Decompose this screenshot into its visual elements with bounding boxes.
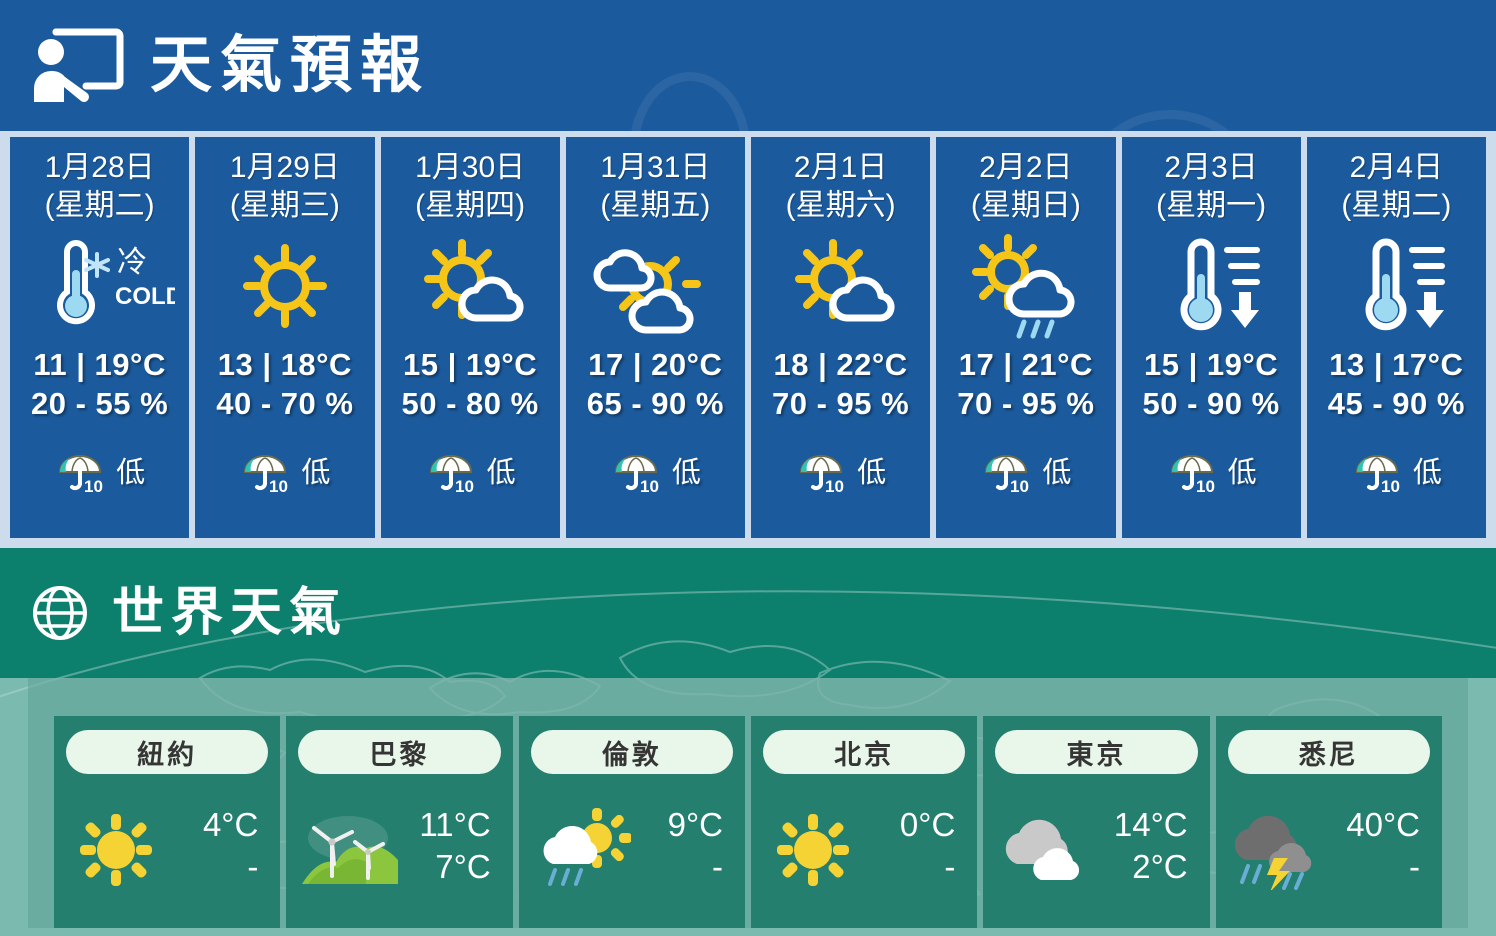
svg-text:冷: 冷 [117,246,147,279]
world-weather-title: 世界天氣 [112,587,348,639]
umbrella-uv-icon: 10 [54,446,106,494]
uv-index-group: 10 低 [795,446,886,494]
uv-level-label: 低 [487,449,516,491]
forecast-temperature-humidity: 17 | 21°C70 - 95 % [957,346,1094,424]
sunny-icon [767,802,863,890]
city-temperatures: 9°C- [668,804,729,888]
umbrella-uv-icon: 10 [1166,446,1218,494]
city-name: 紐約 [66,730,268,774]
city-body: 11°C7°C [298,774,500,918]
city-body: 40°C- [1228,774,1430,918]
forecast-date: 1月29日(星期三) [230,149,340,224]
city-body: 4°C- [66,774,268,918]
svg-text:10: 10 [269,477,288,494]
city-temperatures: 40°C- [1346,804,1426,888]
svg-text:COLD: COLD [115,283,175,310]
decorative-watermark-shape [1075,110,1265,131]
uv-level-label: 低 [116,449,145,491]
city-body: 14°C2°C [995,774,1197,918]
forecast-temperature-humidity: 15 | 19°C50 - 80 % [402,346,539,424]
forecast-temperature-humidity: 18 | 22°C70 - 95 % [772,346,909,424]
sun-rain-cloud-icon [535,802,631,890]
thermometer-falling-icon [1336,232,1456,340]
thermometer-falling-icon [1151,232,1271,340]
forecast-date: 1月28日(星期二) [45,149,155,224]
svg-text:10: 10 [825,477,844,494]
forecast-temperature-humidity: 17 | 20°C65 - 90 % [587,346,724,424]
sunny-icon [230,232,340,340]
cold-thermometer-snowflake-icon: 冷 COLD [25,232,175,340]
forecast-date: 1月31日(星期五) [600,149,710,224]
sunny-icon [70,802,166,890]
city-body: 0°C- [763,774,965,918]
svg-text:10: 10 [455,477,474,494]
windy-turbine-icon [302,802,398,890]
svg-text:10: 10 [1196,477,1215,494]
forecast-date: 2月2日(星期日) [971,149,1081,224]
city-temperatures: 11°C7°C [419,804,496,888]
forecast-temperature-humidity: 13 | 18°C40 - 70 % [216,346,353,424]
city-name: 東京 [995,730,1197,774]
city-card[interactable]: 北京 0°C- [751,716,977,928]
city-name: 北京 [763,730,965,774]
uv-index-group: 10 低 [239,446,330,494]
forecast-cards-row: 1月28日(星期二) 冷 COLD 11 | 19°C20 - 55 % [0,131,1496,548]
globe-icon [30,583,90,643]
world-weather-header: 世界天氣 [0,548,1496,678]
forecast-day-card[interactable]: 1月31日(星期五) 17 | 20°C65 - 90 % [566,137,745,538]
city-body: 9°C- [531,774,733,918]
city-name: 巴黎 [298,730,500,774]
weather-forecast-section: 天氣預報 1月28日(星期二) 冷 COLD 11 | [0,0,1496,548]
uv-level-label: 低 [1413,449,1442,491]
forecast-day-card[interactable]: 2月2日(星期日) 17 | 21°C70 - 95 % [936,137,1115,538]
forecast-day-card[interactable]: 2月4日(星期二) 13 | 17°C45 - 90 % [1307,137,1486,538]
forecast-date: 2月3日(星期一) [1156,149,1266,224]
city-name: 倫敦 [531,730,733,774]
svg-text:10: 10 [1381,477,1400,494]
umbrella-uv-icon: 10 [980,446,1032,494]
uv-index-group: 10 低 [980,446,1071,494]
svg-text:10: 10 [1010,477,1029,494]
city-card[interactable]: 紐約 4°C- [54,716,280,928]
page-title: 天氣預報 [150,35,430,97]
forecast-date: 2月1日(星期六) [786,149,896,224]
forecast-temperature-humidity: 15 | 19°C50 - 90 % [1143,346,1280,424]
forecast-header: 天氣預報 [0,0,1496,131]
world-cities-panel: 紐約 4°C- [28,678,1468,928]
thunderstorm-icon [1232,802,1328,890]
uv-index-group: 10 低 [1166,446,1257,494]
svg-text:10: 10 [640,477,659,494]
sun-with-cloud-icon [410,232,530,340]
uv-index-group: 10 低 [1351,446,1442,494]
uv-level-label: 低 [301,449,330,491]
mostly-cloudy-with-sun-icon [590,232,720,340]
world-weather-section: 世界天氣 紐約 [0,548,1496,936]
forecast-temperature-humidity: 13 | 17°C45 - 90 % [1328,346,1465,424]
presenter-board-icon [30,26,126,106]
forecast-date: 2月4日(星期二) [1341,149,1451,224]
forecast-day-card[interactable]: 1月29日(星期三) 13 | 18°C40 - 70 % [195,137,374,538]
city-name: 悉尼 [1228,730,1430,774]
sun-cloud-rain-icon [966,232,1086,340]
umbrella-uv-icon: 10 [1351,446,1403,494]
city-card[interactable]: 倫敦 [519,716,745,928]
umbrella-uv-icon: 10 [610,446,662,494]
sun-with-cloud-icon [781,232,901,340]
city-temperatures: 4°C- [203,804,264,888]
decorative-watermark-shape [630,72,750,131]
forecast-day-card[interactable]: 2月1日(星期六) 18 | 22°C70 - 95 % [751,137,930,538]
uv-index-group: 10 低 [610,446,701,494]
uv-index-group: 10 低 [425,446,516,494]
uv-level-label: 低 [672,449,701,491]
svg-text:10: 10 [84,477,103,494]
city-cards-row: 紐約 4°C- [54,716,1442,928]
cloudy-icon [999,802,1095,890]
umbrella-uv-icon: 10 [795,446,847,494]
forecast-day-card[interactable]: 1月28日(星期二) 冷 COLD 11 | 19°C20 - 55 % [10,137,189,538]
city-temperatures: 14°C2°C [1114,804,1194,888]
uv-index-group: 10 低 [54,446,145,494]
city-card[interactable]: 巴黎 11°C7°C [286,716,512,928]
uv-level-label: 低 [857,449,886,491]
forecast-day-card[interactable]: 2月3日(星期一) 15 | 19°C50 - 90 % [1122,137,1301,538]
forecast-temperature-humidity: 11 | 19°C20 - 55 % [31,346,168,424]
city-card[interactable]: 悉尼 40°C- [1216,716,1442,928]
forecast-date: 1月30日(星期四) [415,149,525,224]
uv-level-label: 低 [1228,449,1257,491]
forecast-day-card[interactable]: 1月30日(星期四) 15 | 19°C50 - 80 % [381,137,560,538]
uv-level-label: 低 [1042,449,1071,491]
umbrella-uv-icon: 10 [239,446,291,494]
umbrella-uv-icon: 10 [425,446,477,494]
city-card[interactable]: 東京 14°C2°C [983,716,1209,928]
city-temperatures: 0°C- [900,804,961,888]
